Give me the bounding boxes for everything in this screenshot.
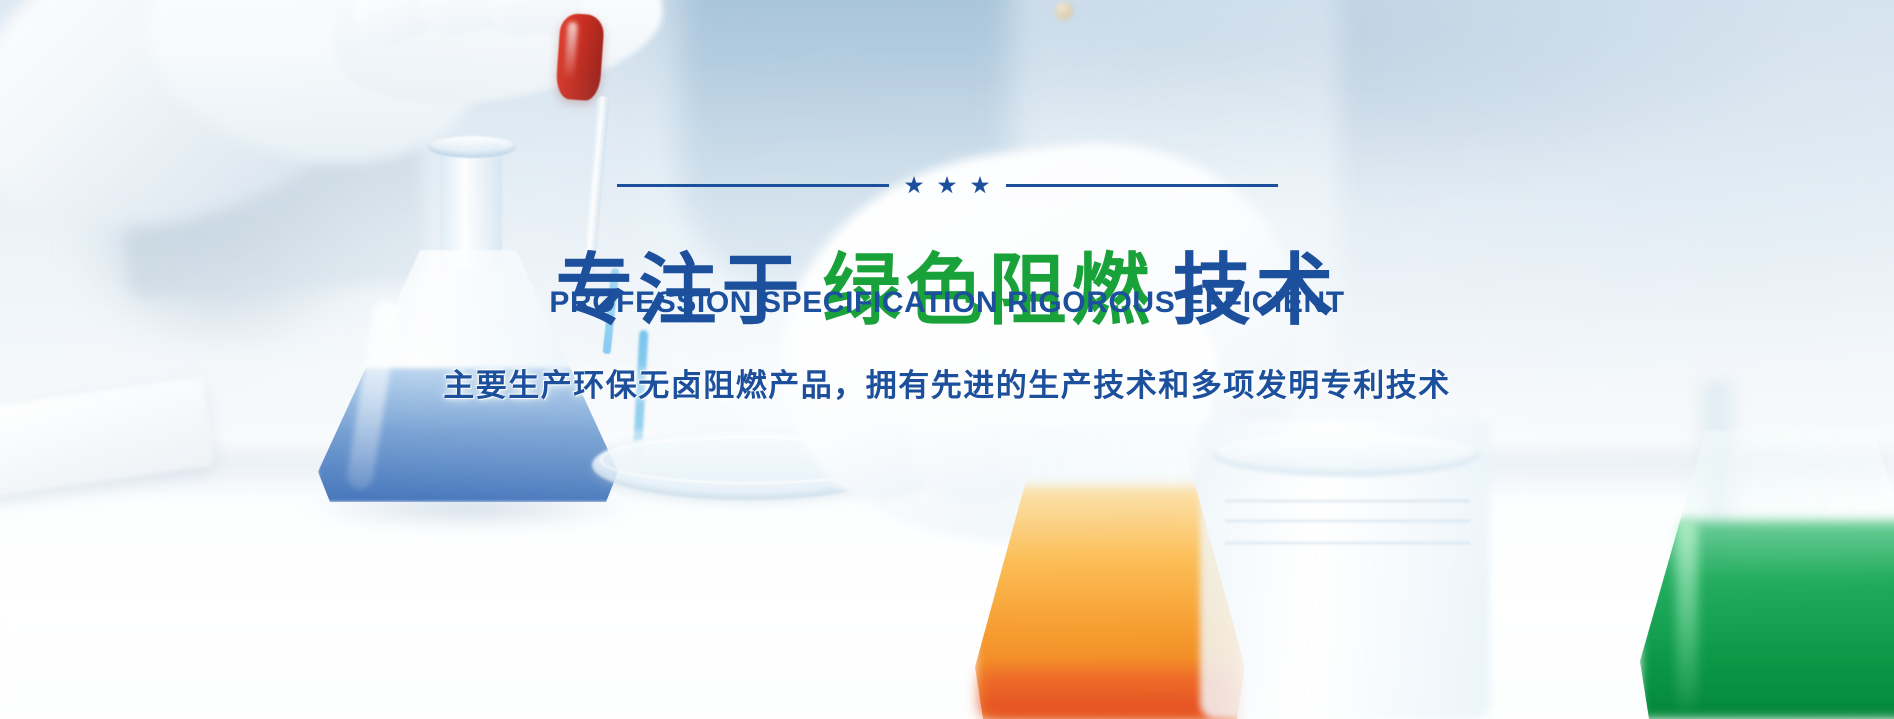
star-group	[905, 176, 990, 195]
subtitle-chinese: 主要生产环保无卤阻燃产品，拥有先进的生产技术和多项发明专利技术	[0, 360, 1894, 405]
divider-line-right	[1006, 184, 1278, 187]
star-icon	[905, 176, 924, 195]
hero-banner: 专注于绿色阻燃技术 PROFESSION SPECIFICATION RIGOR…	[0, 0, 1894, 719]
banner-content: 专注于绿色阻燃技术 PROFESSION SPECIFICATION RIGOR…	[0, 0, 1894, 719]
star-icon	[971, 176, 990, 195]
subtitle-english: PROFESSION SPECIFICATION RIGOROUS EFFICI…	[0, 286, 1894, 320]
headline-divider	[0, 176, 1894, 195]
star-icon	[938, 176, 957, 195]
divider-line-left	[617, 184, 889, 187]
